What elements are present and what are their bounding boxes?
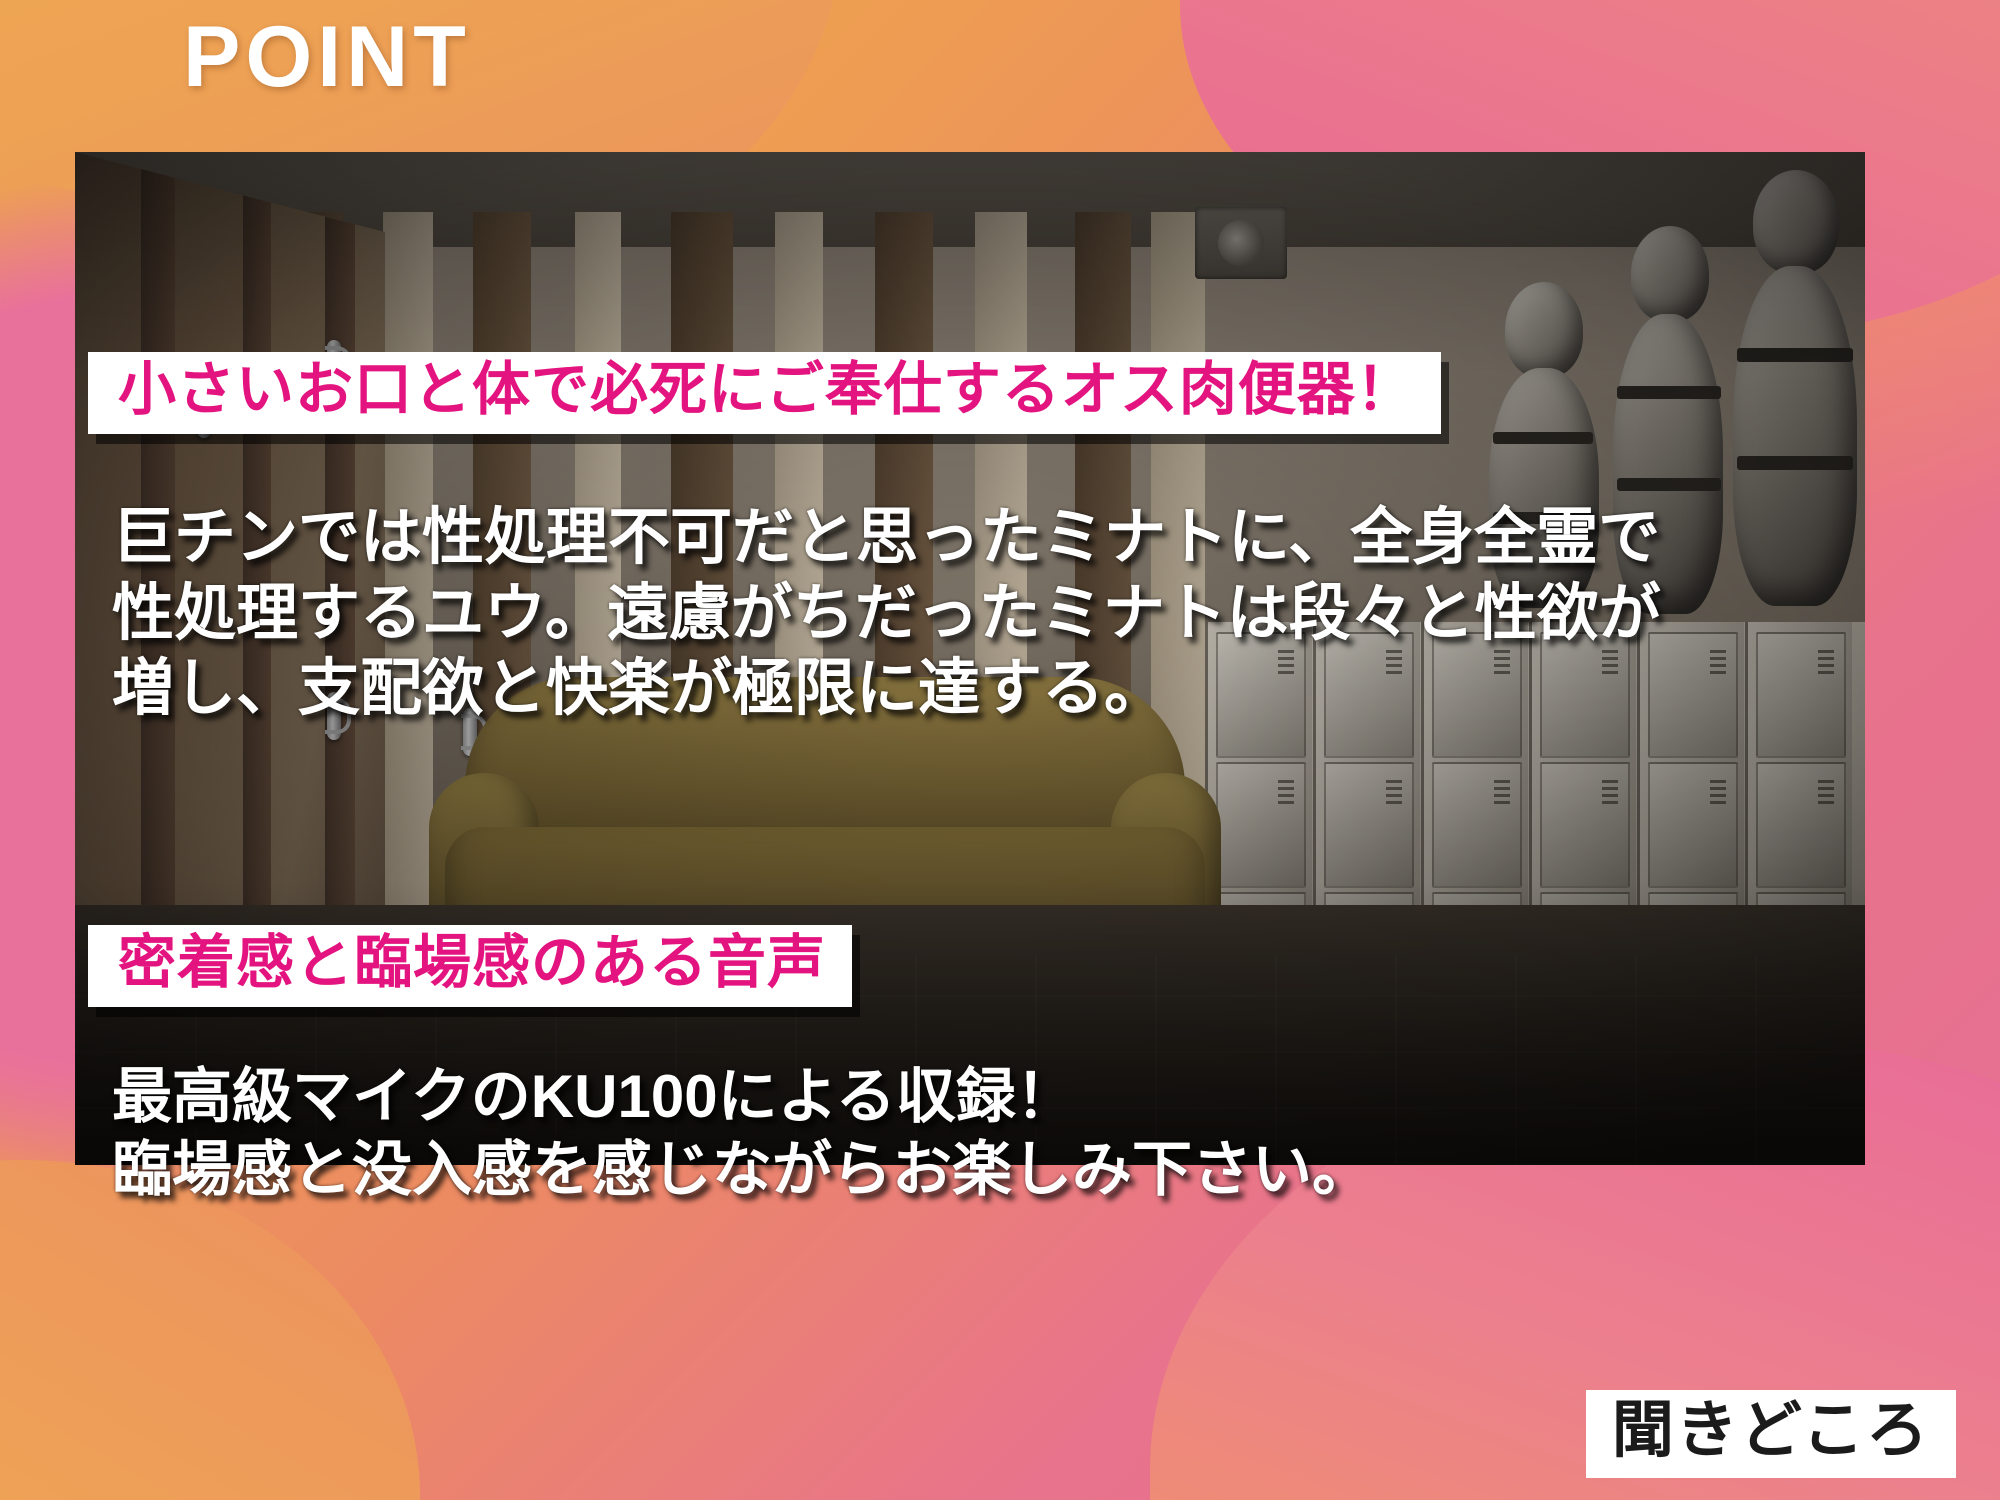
footer-logo: 聞きどころ <box>1612 1400 1930 1462</box>
section-headline-band-1: 小さいお口と体で必死にご奉仕するオス肉便器！ <box>88 352 1441 434</box>
section-body-2: 最高級マイクのKU100による収録！ 臨場感と没入感を感じながらお楽しみ下さい。 <box>112 1060 1372 1206</box>
slide-canvas: POINT <box>0 0 2000 1500</box>
footer-logo-band: 聞きどころ <box>1586 1390 1956 1478</box>
page-title: POINT <box>183 14 471 100</box>
section-headline-band-2: 密着感と臨場感のある音声 <box>88 925 852 1007</box>
section-headline-2: 密着感と臨場感のある音声 <box>118 934 826 992</box>
section-body-1: 巨チンでは性処理不可だと思ったミナトに、全身全霊で 性処理するユウ。遠慮がちだっ… <box>112 500 1661 727</box>
section-headline-1: 小さいお口と体で必死にご奉仕するオス肉便器！ <box>118 361 1415 419</box>
